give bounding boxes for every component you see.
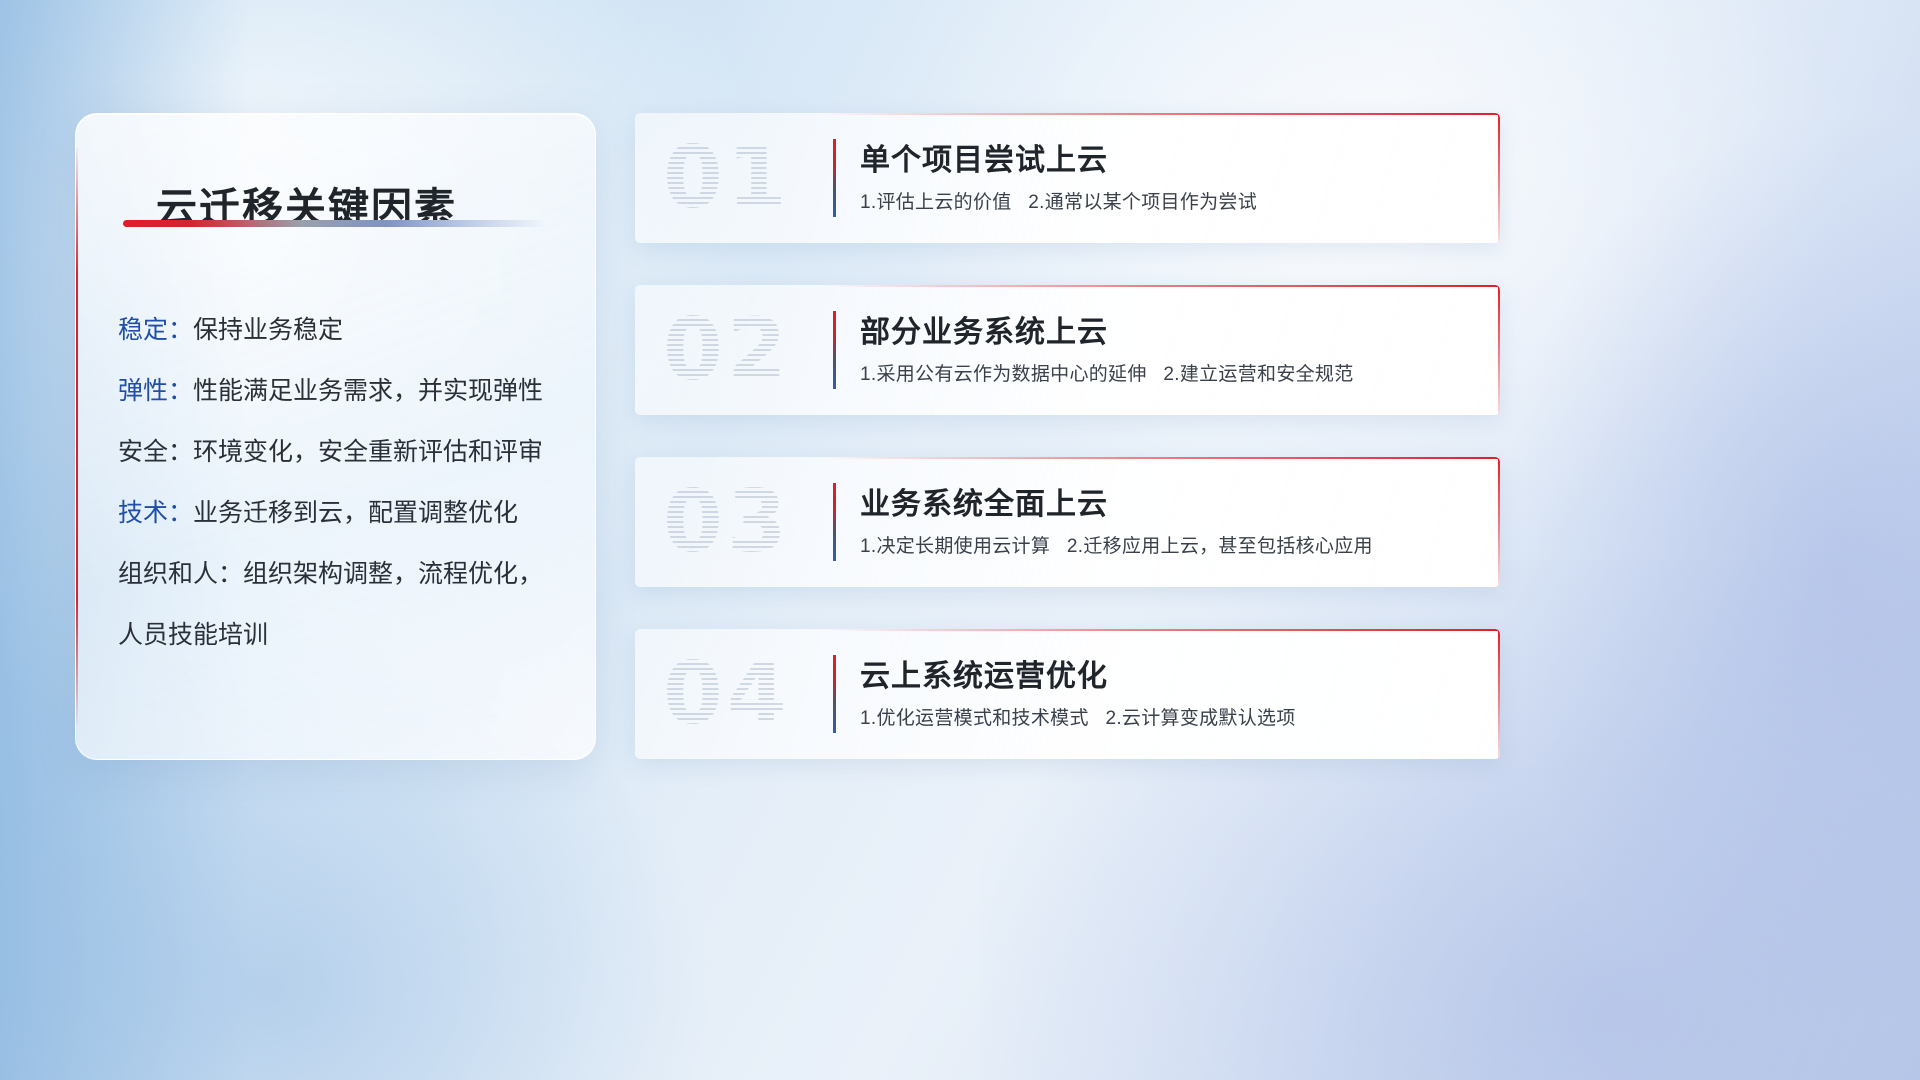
- list-item: 组织和人：组织架构调整，流程优化，: [118, 544, 573, 605]
- list-item-text: 环境变化，安全重新评估和评审: [193, 438, 543, 466]
- stage-title: 单个项目尝试上云: [860, 135, 1108, 179]
- stage-number: 04: [663, 643, 813, 745]
- stage-number: 01: [663, 127, 813, 229]
- list-item-text: 性能满足业务需求，并实现弹性: [193, 377, 543, 405]
- list-item-label: 技术：: [118, 499, 193, 527]
- stage-number: 03: [663, 471, 813, 573]
- stage-divider-bar: [833, 139, 836, 217]
- list-item: 安全：环境变化，安全重新评估和评审: [118, 422, 573, 483]
- stage-subtitle: 1.决定长期使用云计算 2.迁移应用上云，甚至包括核心应用: [860, 531, 1373, 558]
- stage-cards-list: 01 单个项目尝试上云 1.评估上云的价值 2.通常以某个项目作为尝试 02 部…: [635, 113, 1500, 801]
- title-underline-accent: [123, 220, 548, 227]
- stage-subtitle: 1.采用公有云作为数据中心的延伸 2.建立运营和安全规范: [860, 359, 1354, 386]
- stage-title: 云上系统运营优化: [860, 651, 1108, 695]
- stage-subtitle: 1.优化运营模式和技术模式 2.云计算变成默认选项: [860, 703, 1296, 730]
- stage-title: 部分业务系统上云: [860, 307, 1108, 351]
- stage-divider-bar: [833, 311, 836, 389]
- list-item-text: 保持业务稳定: [193, 316, 343, 344]
- stage-divider-bar: [833, 655, 836, 733]
- list-item: 弹性：性能满足业务需求，并实现弹性: [118, 361, 573, 422]
- key-factors-panel: 云迁移关键因素 稳定：保持业务稳定 弹性：性能满足业务需求，并实现弹性 安全：环…: [75, 113, 596, 760]
- key-factors-list: 稳定：保持业务稳定 弹性：性能满足业务需求，并实现弹性 安全：环境变化，安全重新…: [118, 300, 573, 666]
- stage-card[interactable]: 02 部分业务系统上云 1.采用公有云作为数据中心的延伸 2.建立运营和安全规范: [635, 285, 1500, 415]
- list-item-label: 安全：: [118, 438, 193, 466]
- list-item-label: 弹性：: [118, 377, 193, 405]
- list-item: 稳定：保持业务稳定: [118, 300, 573, 361]
- list-item-label: 稳定：: [118, 316, 193, 344]
- stage-divider-bar: [833, 483, 836, 561]
- background-edge-right: [1500, 120, 1920, 1020]
- stage-card[interactable]: 01 单个项目尝试上云 1.评估上云的价值 2.通常以某个项目作为尝试: [635, 113, 1500, 243]
- stage-title: 业务系统全面上云: [860, 479, 1108, 523]
- stage-subtitle: 1.评估上云的价值 2.通常以某个项目作为尝试: [860, 187, 1257, 214]
- list-item: 人员技能培训: [118, 605, 573, 666]
- slide-canvas: 云迁移关键因素 稳定：保持业务稳定 弹性：性能满足业务需求，并实现弹性 安全：环…: [0, 0, 1920, 1080]
- list-item-text: 组织架构调整，流程优化，: [243, 560, 543, 588]
- list-item-label: 组织和人：: [118, 560, 243, 588]
- stage-card[interactable]: 03 业务系统全面上云 1.决定长期使用云计算 2.迁移应用上云，甚至包括核心应…: [635, 457, 1500, 587]
- list-item: 技术：业务迁移到云，配置调整优化: [118, 483, 573, 544]
- list-item-text: 业务迁移到云，配置调整优化: [193, 499, 518, 527]
- stage-card[interactable]: 04 云上系统运营优化 1.优化运营模式和技术模式 2.云计算变成默认选项: [635, 629, 1500, 759]
- list-item-text: 人员技能培训: [118, 621, 268, 649]
- stage-number: 02: [663, 299, 813, 401]
